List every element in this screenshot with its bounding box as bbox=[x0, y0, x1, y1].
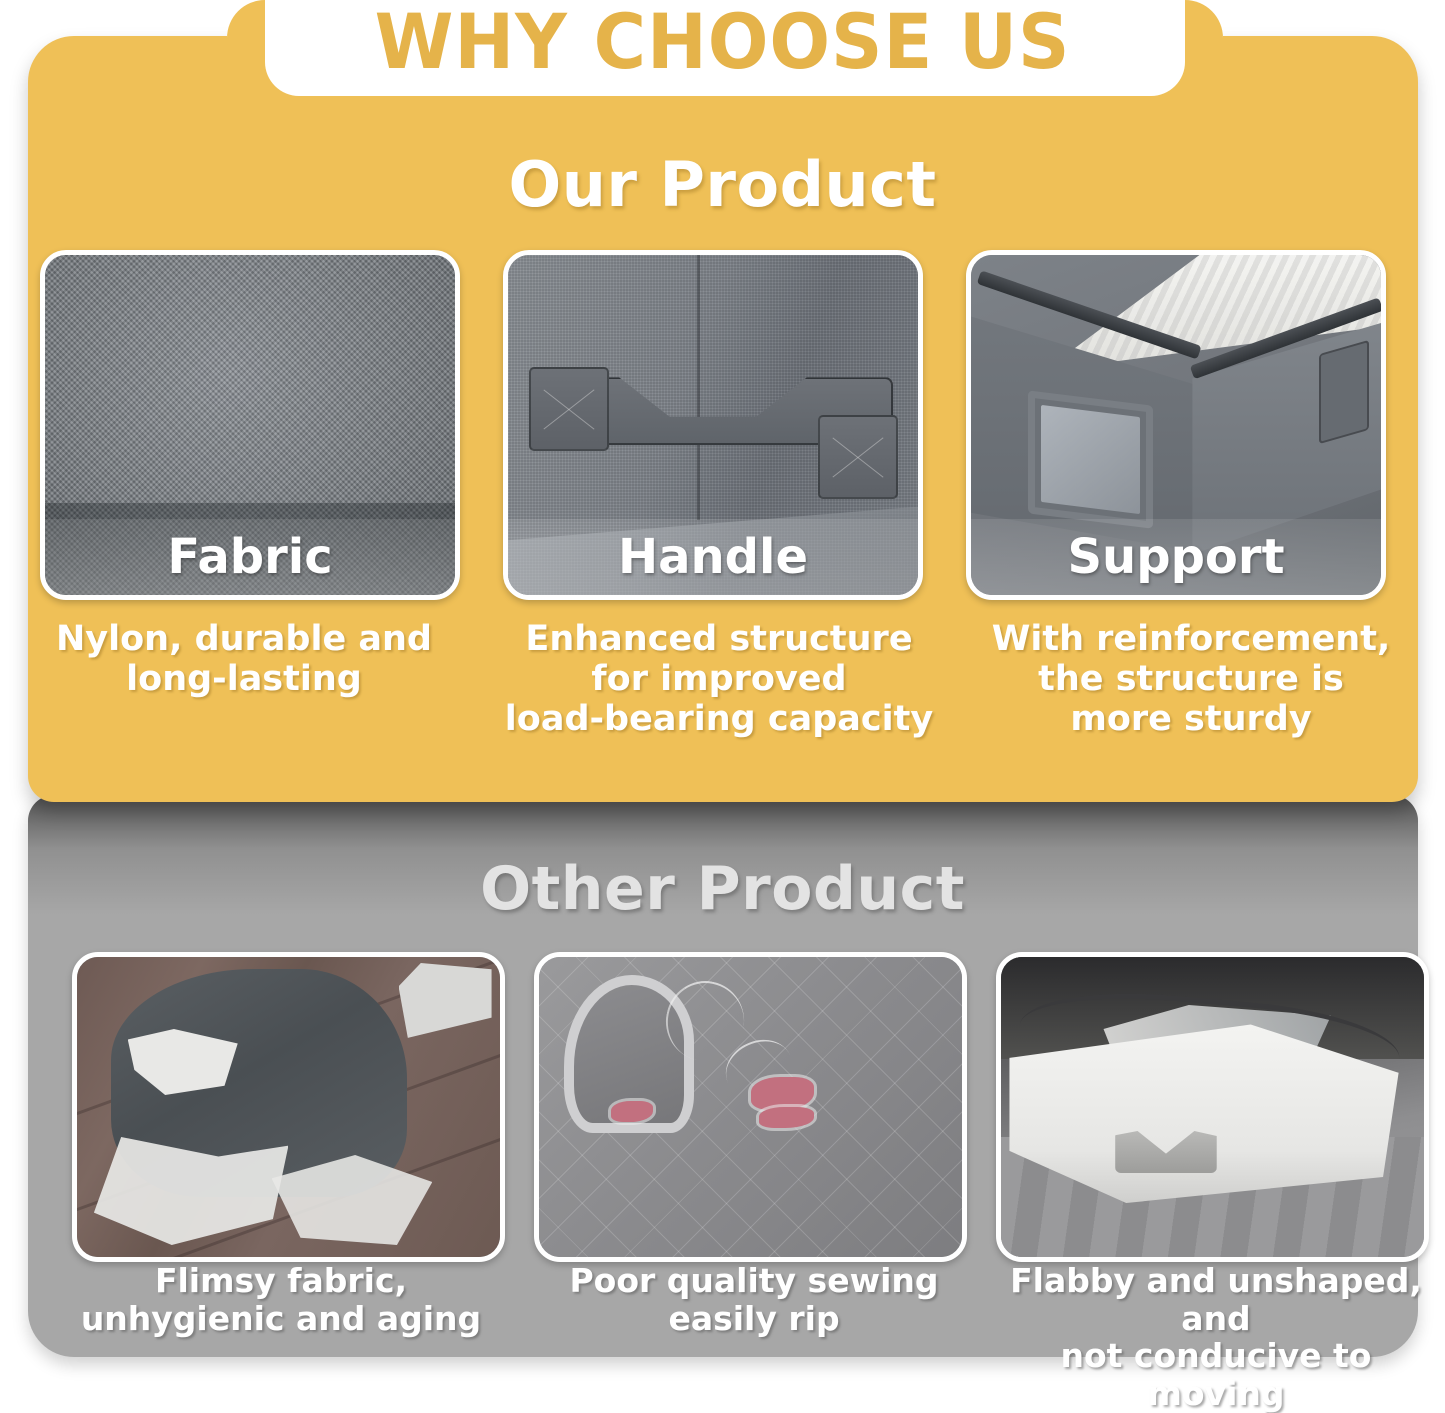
page-title: WHY CHOOSE US bbox=[43, 4, 1401, 80]
ripped-quilted-bag-image bbox=[539, 957, 962, 1257]
other-product-captions: Flimsy fabric, unhygienic and aging Poor… bbox=[0, 1262, 1445, 1412]
torn-bag-image bbox=[77, 957, 500, 1257]
card-label-handle: Handle bbox=[508, 519, 918, 595]
our-product-card-fabric: Fabric bbox=[40, 250, 460, 600]
our-product-card-support: Support bbox=[966, 250, 1386, 600]
our-caption-3: With reinforcement, the structure is mor… bbox=[966, 620, 1416, 740]
card-label-fabric: Fabric bbox=[45, 519, 455, 595]
other-product-title: Other Product bbox=[0, 854, 1445, 924]
flabby-bag-image bbox=[1001, 957, 1424, 1257]
other-caption-3: Flabby and unshaped, and not conducive t… bbox=[990, 1262, 1442, 1412]
other-product-card-3 bbox=[996, 952, 1429, 1262]
other-product-card-2 bbox=[534, 952, 967, 1262]
other-caption-2: Poor quality sewing easily rip bbox=[524, 1262, 984, 1412]
our-caption-2: Enhanced structure for improved load-bea… bbox=[484, 620, 954, 740]
our-product-title: Our Product bbox=[0, 148, 1445, 221]
card-label-support: Support bbox=[971, 519, 1381, 595]
infographic-root: Other Product bbox=[0, 0, 1445, 1373]
other-caption-1: Flimsy fabric, unhygienic and aging bbox=[46, 1262, 516, 1412]
our-caption-1: Nylon, durable and long-lasting bbox=[14, 620, 474, 740]
our-product-card-handle: Handle bbox=[503, 250, 923, 600]
our-product-captions: Nylon, durable and long-lasting Enhanced… bbox=[0, 620, 1445, 740]
other-product-card-1 bbox=[72, 952, 505, 1262]
